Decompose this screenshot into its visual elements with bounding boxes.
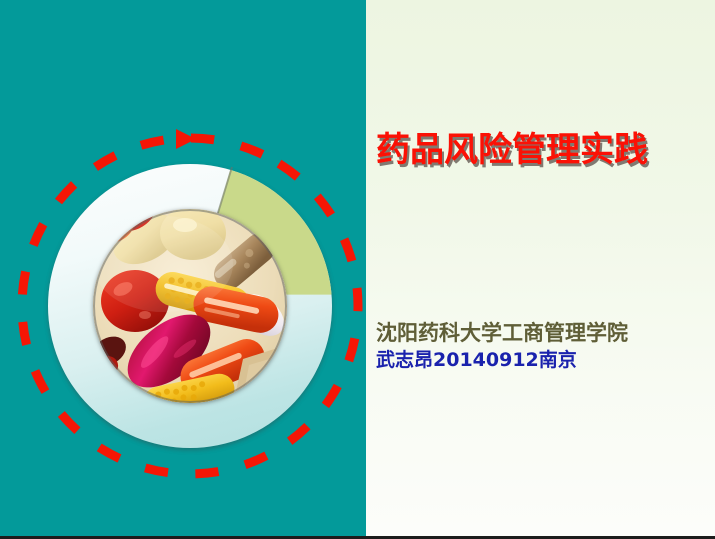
pill-circle-diagram: LOZ <box>0 0 366 536</box>
arrow-head-icon <box>176 129 196 149</box>
slide-canvas: LOZ <box>0 0 715 539</box>
assorted-pills-photo: LOZ <box>93 209 287 403</box>
subtitle-organization: 沈阳药科大学工商管理学院 <box>376 320 706 348</box>
right-content-panel <box>366 0 715 536</box>
slide-subtitle-block: 沈阳药科大学工商管理学院 武志昂20140912南京 <box>376 320 706 373</box>
subtitle-author-date-location: 武志昂20140912南京 <box>376 348 706 373</box>
slide-title: 药品风险管理实践 <box>376 129 706 172</box>
